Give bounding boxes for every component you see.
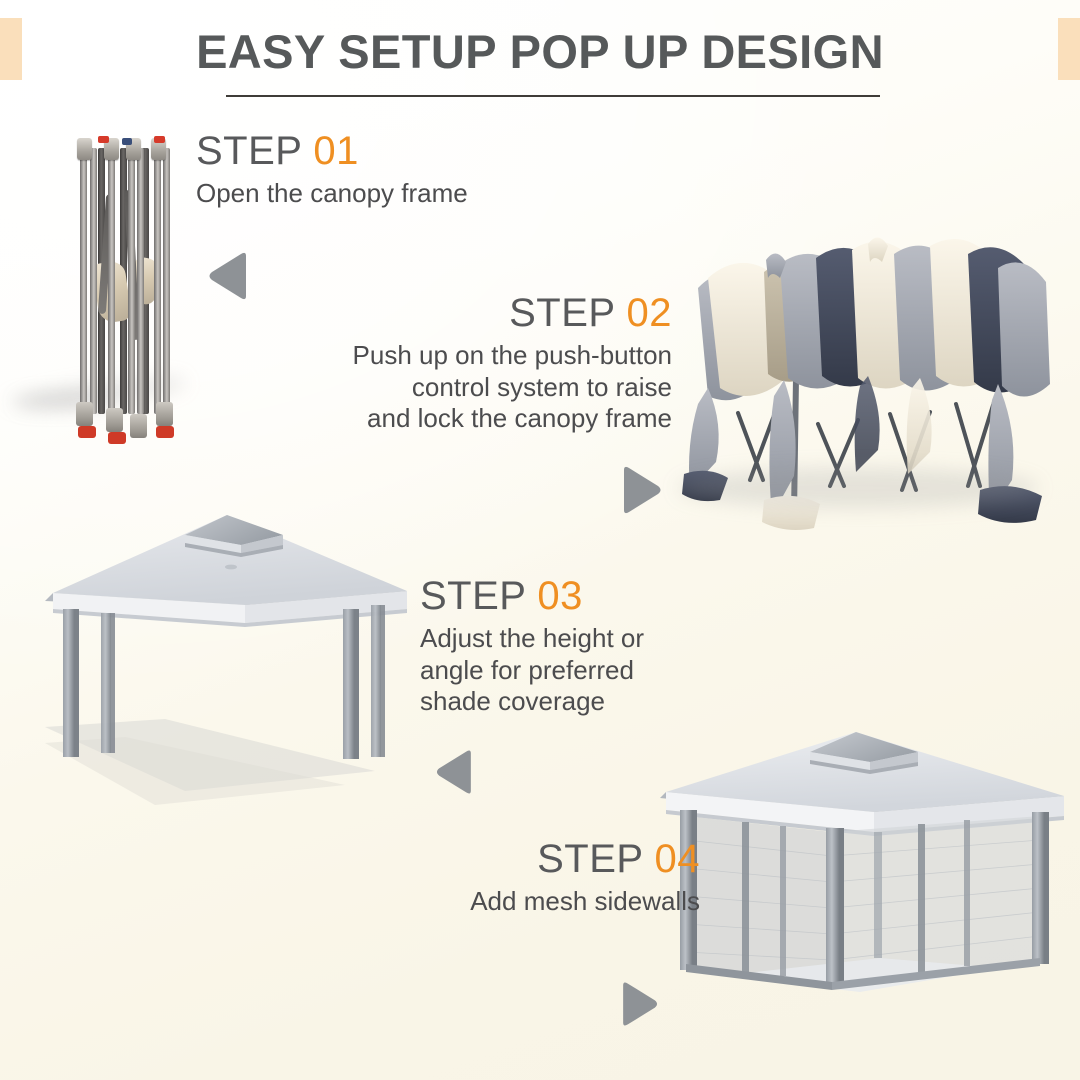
step-3-heading: STEP 03 xyxy=(420,575,710,617)
step-1-label: STEP xyxy=(196,129,302,173)
step-4-description: Add mesh sidewalls xyxy=(390,886,700,918)
step-4-number: 04 xyxy=(655,837,701,881)
partially-raised-canopy-photo xyxy=(668,228,1068,538)
gazebo-with-mesh-sidewalls-render xyxy=(660,700,1070,1030)
assembled-gazebo-render xyxy=(45,505,445,815)
step-1-heading: STEP 01 xyxy=(196,130,468,172)
step-2-number: 02 xyxy=(627,291,673,335)
step-2-description-line-2: control system to raise xyxy=(272,372,672,404)
step-1-number: 01 xyxy=(313,129,359,173)
step-3-text-block: STEP 03 Adjust the height or angle for p… xyxy=(420,575,710,718)
step-2-description-line-3: and lock the canopy frame xyxy=(272,403,672,435)
step-4-text-block: STEP 04 Add mesh sidewalls xyxy=(390,838,700,918)
step-3-label: STEP xyxy=(420,574,526,618)
step-1-text-block: STEP 01 Open the canopy frame xyxy=(196,130,468,210)
page-title: EASY SETUP POP UP DESIGN xyxy=(0,24,1080,79)
step-3-number: 03 xyxy=(537,574,583,618)
title-divider xyxy=(226,95,880,97)
step-2-description-line-1: Push up on the push-button xyxy=(272,340,672,372)
step-4-heading: STEP 04 xyxy=(390,838,700,880)
step-3-description-line-2: angle for preferred xyxy=(420,655,710,687)
step-2-text-block: STEP 02 Push up on the push-button contr… xyxy=(272,292,672,435)
step-2-description: Push up on the push-button control syste… xyxy=(272,340,672,435)
infographic-canvas: EASY SETUP POP UP DESIGN xyxy=(0,0,1080,1080)
step-4-label: STEP xyxy=(537,837,643,881)
step-2-label: STEP xyxy=(509,291,615,335)
step-2-heading: STEP 02 xyxy=(272,292,672,334)
folded-canopy-frame-photo xyxy=(68,132,198,442)
step-3-description-line-1: Adjust the height or xyxy=(420,623,710,655)
step-1-description: Open the canopy frame xyxy=(196,178,468,210)
